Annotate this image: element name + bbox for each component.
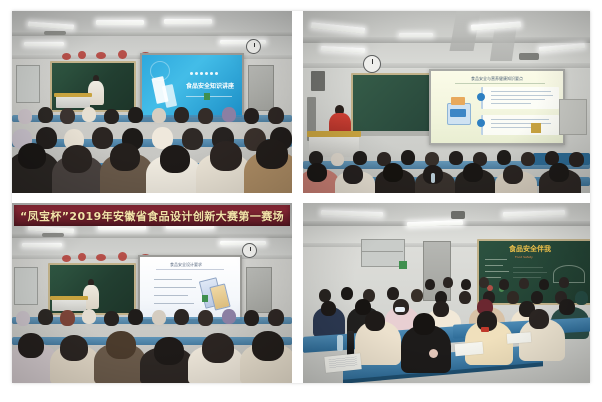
student-head <box>411 289 423 302</box>
slide-card-graphic <box>162 84 177 108</box>
student-head <box>62 145 92 173</box>
projector <box>519 53 539 60</box>
slide-text-line <box>154 279 192 280</box>
competition-banner: “凤宝杯”2019年安徽省食品设计创新大赛第一赛场 <box>14 205 290 226</box>
student-head <box>198 108 213 124</box>
slide-text-line <box>491 91 551 92</box>
ceiling-light <box>22 243 62 247</box>
slide-title: 食品安全设计要求 <box>170 262 202 268</box>
exit-sign <box>399 261 407 269</box>
student-head <box>425 152 439 166</box>
chalkboard <box>351 73 433 135</box>
front-desk-top <box>50 296 88 300</box>
slide-pale: 食品安全与营养健康知识要点 <box>431 71 563 143</box>
student-head <box>343 165 363 184</box>
window-divider <box>361 251 403 252</box>
chalk-decoration <box>485 265 503 266</box>
student-head <box>383 163 403 182</box>
student-head <box>307 163 327 182</box>
papers <box>455 342 484 356</box>
projection-screen: 食品安全与营养健康知识要点 <box>429 69 565 145</box>
student-head <box>128 107 143 123</box>
student-head <box>82 309 96 324</box>
student-head <box>531 291 543 304</box>
wall-decoration <box>78 51 86 59</box>
slide-text-line <box>491 95 553 96</box>
photo-panel-top-right[interactable]: 食品安全与营养健康知识要点 <box>303 11 590 193</box>
student-head <box>479 277 489 288</box>
photo-panel-bottom-left[interactable]: “凤宝杯”2019年安徽省食品设计创新大赛第一赛场 <box>12 203 292 383</box>
student-head <box>529 309 549 329</box>
water-bottle <box>431 173 435 183</box>
student-head <box>365 311 385 331</box>
slide-text-line <box>491 119 549 120</box>
student-head <box>507 291 519 304</box>
student-head <box>497 150 511 165</box>
student-head <box>256 139 288 169</box>
student-head <box>60 108 75 124</box>
student-head <box>106 331 136 359</box>
student-head <box>539 279 549 290</box>
door <box>246 267 272 313</box>
wall-decoration <box>118 252 127 261</box>
papers <box>507 332 532 344</box>
student-head <box>38 107 53 123</box>
student-head <box>569 152 584 167</box>
ceiling-light <box>164 19 212 24</box>
student-head <box>174 107 189 123</box>
podium-top <box>307 131 361 137</box>
wall-decoration <box>62 255 71 262</box>
chalkboard-subtitle: Food Safety <box>515 255 533 259</box>
wall-clock <box>363 55 381 73</box>
student-head <box>104 109 119 124</box>
wall-cabinet <box>14 267 38 305</box>
chalk-decoration <box>513 267 543 268</box>
slide-illustration-top <box>451 97 465 105</box>
ceiling-beam <box>303 37 590 43</box>
ceiling-fan <box>42 233 64 237</box>
slide-title: 食品安全知识讲座 <box>186 81 234 90</box>
chalk-decoration <box>513 277 541 278</box>
student-head <box>18 333 44 358</box>
student-head <box>198 310 213 326</box>
slide-illustration-label <box>450 109 466 117</box>
student-head <box>413 313 435 335</box>
wall-speaker <box>311 71 325 91</box>
front-desk-top <box>54 93 92 97</box>
student-head <box>499 279 509 290</box>
student-head <box>252 331 284 361</box>
student-head <box>18 109 32 124</box>
student-head <box>503 165 523 184</box>
wall-decoration <box>118 50 127 59</box>
photo-collage: 食品安全知识讲座 <box>0 0 602 402</box>
student-head <box>331 153 344 166</box>
student-head <box>18 143 46 169</box>
slide-title: 食品安全与营养健康知识要点 <box>471 76 523 82</box>
student-head <box>152 108 166 123</box>
chalk-decoration <box>513 272 547 273</box>
student-head <box>387 287 399 300</box>
banner-text: “凤宝杯”2019年安徽省食品设计创新大赛第一赛场 <box>20 208 284 224</box>
student-head <box>459 291 471 304</box>
student-head <box>110 143 140 171</box>
student-head <box>244 108 259 124</box>
student-head <box>160 145 190 173</box>
student-head <box>353 151 367 165</box>
student-head <box>559 299 575 315</box>
student-head <box>210 141 242 171</box>
chalk-decoration <box>485 271 509 272</box>
projector <box>451 211 465 219</box>
student-head <box>128 309 143 325</box>
student-head <box>222 107 236 122</box>
student-head <box>268 309 284 326</box>
red-item <box>481 327 489 332</box>
chalkboard-headline: 食品安全伴我 <box>509 244 551 254</box>
student-head <box>521 152 535 166</box>
wall-decoration <box>96 254 106 261</box>
slide-rule <box>156 269 224 270</box>
student-head <box>92 127 113 149</box>
wall-marker <box>531 123 541 133</box>
wall-decoration <box>62 53 71 60</box>
desk-row <box>12 337 292 345</box>
collage-inner-frame: 食品安全知识讲座 <box>12 11 590 383</box>
student-head <box>152 310 166 325</box>
slide-dots <box>190 72 218 75</box>
ceiling-light <box>96 20 144 25</box>
student-head <box>463 163 483 182</box>
slide-decor-circle <box>150 61 170 81</box>
ceiling-light <box>24 42 64 46</box>
student-head <box>38 309 53 325</box>
wall-decoration <box>78 253 86 261</box>
student-head <box>449 151 463 165</box>
slide-text-line <box>154 295 188 296</box>
chalk-decoration <box>485 259 507 260</box>
slide-text-line <box>154 287 196 288</box>
student-head <box>341 287 353 300</box>
student-head <box>202 333 234 363</box>
student-head <box>60 335 88 361</box>
student-head <box>519 278 529 289</box>
chalk-decoration <box>553 265 585 283</box>
student-head <box>60 310 75 326</box>
slide-rule <box>455 83 545 84</box>
wall-cabinet <box>16 65 40 103</box>
student-head <box>401 150 415 165</box>
student-head <box>104 311 119 326</box>
exit-sign <box>204 93 210 100</box>
door <box>248 65 274 111</box>
student-head <box>268 107 284 124</box>
water-bottle <box>337 335 343 351</box>
slide-text-line <box>154 303 194 304</box>
student-head <box>443 277 453 288</box>
face-mask <box>395 307 405 312</box>
slide-bullet-number <box>477 93 485 101</box>
student-head <box>321 301 336 316</box>
student-head <box>433 301 449 317</box>
student-head <box>174 309 189 325</box>
student-head <box>154 337 184 365</box>
student-head <box>222 309 236 324</box>
wall-clock <box>242 243 257 258</box>
student-head <box>425 279 435 290</box>
student-head <box>182 128 203 150</box>
slide-text-line <box>491 123 551 124</box>
jacket-logo <box>429 349 438 358</box>
wall-decoration <box>96 52 106 59</box>
student-head <box>461 279 471 290</box>
slide-bullet-number <box>477 119 485 127</box>
photo-panel-top-left[interactable]: 食品安全知识讲座 <box>12 11 292 193</box>
photo-panel-bottom-right[interactable]: 食品安全伴我 Food Safety <box>303 203 590 383</box>
student-head <box>16 311 30 326</box>
ceiling-light <box>399 33 433 37</box>
ceiling-light <box>220 241 266 245</box>
slide-text-line <box>491 99 545 100</box>
wall-clock <box>246 39 261 54</box>
student-head <box>559 277 569 288</box>
exit-sign <box>202 295 208 302</box>
student-head <box>549 163 569 182</box>
ceiling-fan <box>44 31 66 35</box>
slide-bullet-row <box>481 115 559 135</box>
student-head <box>244 310 259 326</box>
slide-text-line <box>491 103 531 104</box>
ceiling-beam <box>303 63 590 68</box>
wall-panel <box>559 99 587 135</box>
student-head <box>82 107 96 122</box>
student-head <box>575 291 588 305</box>
